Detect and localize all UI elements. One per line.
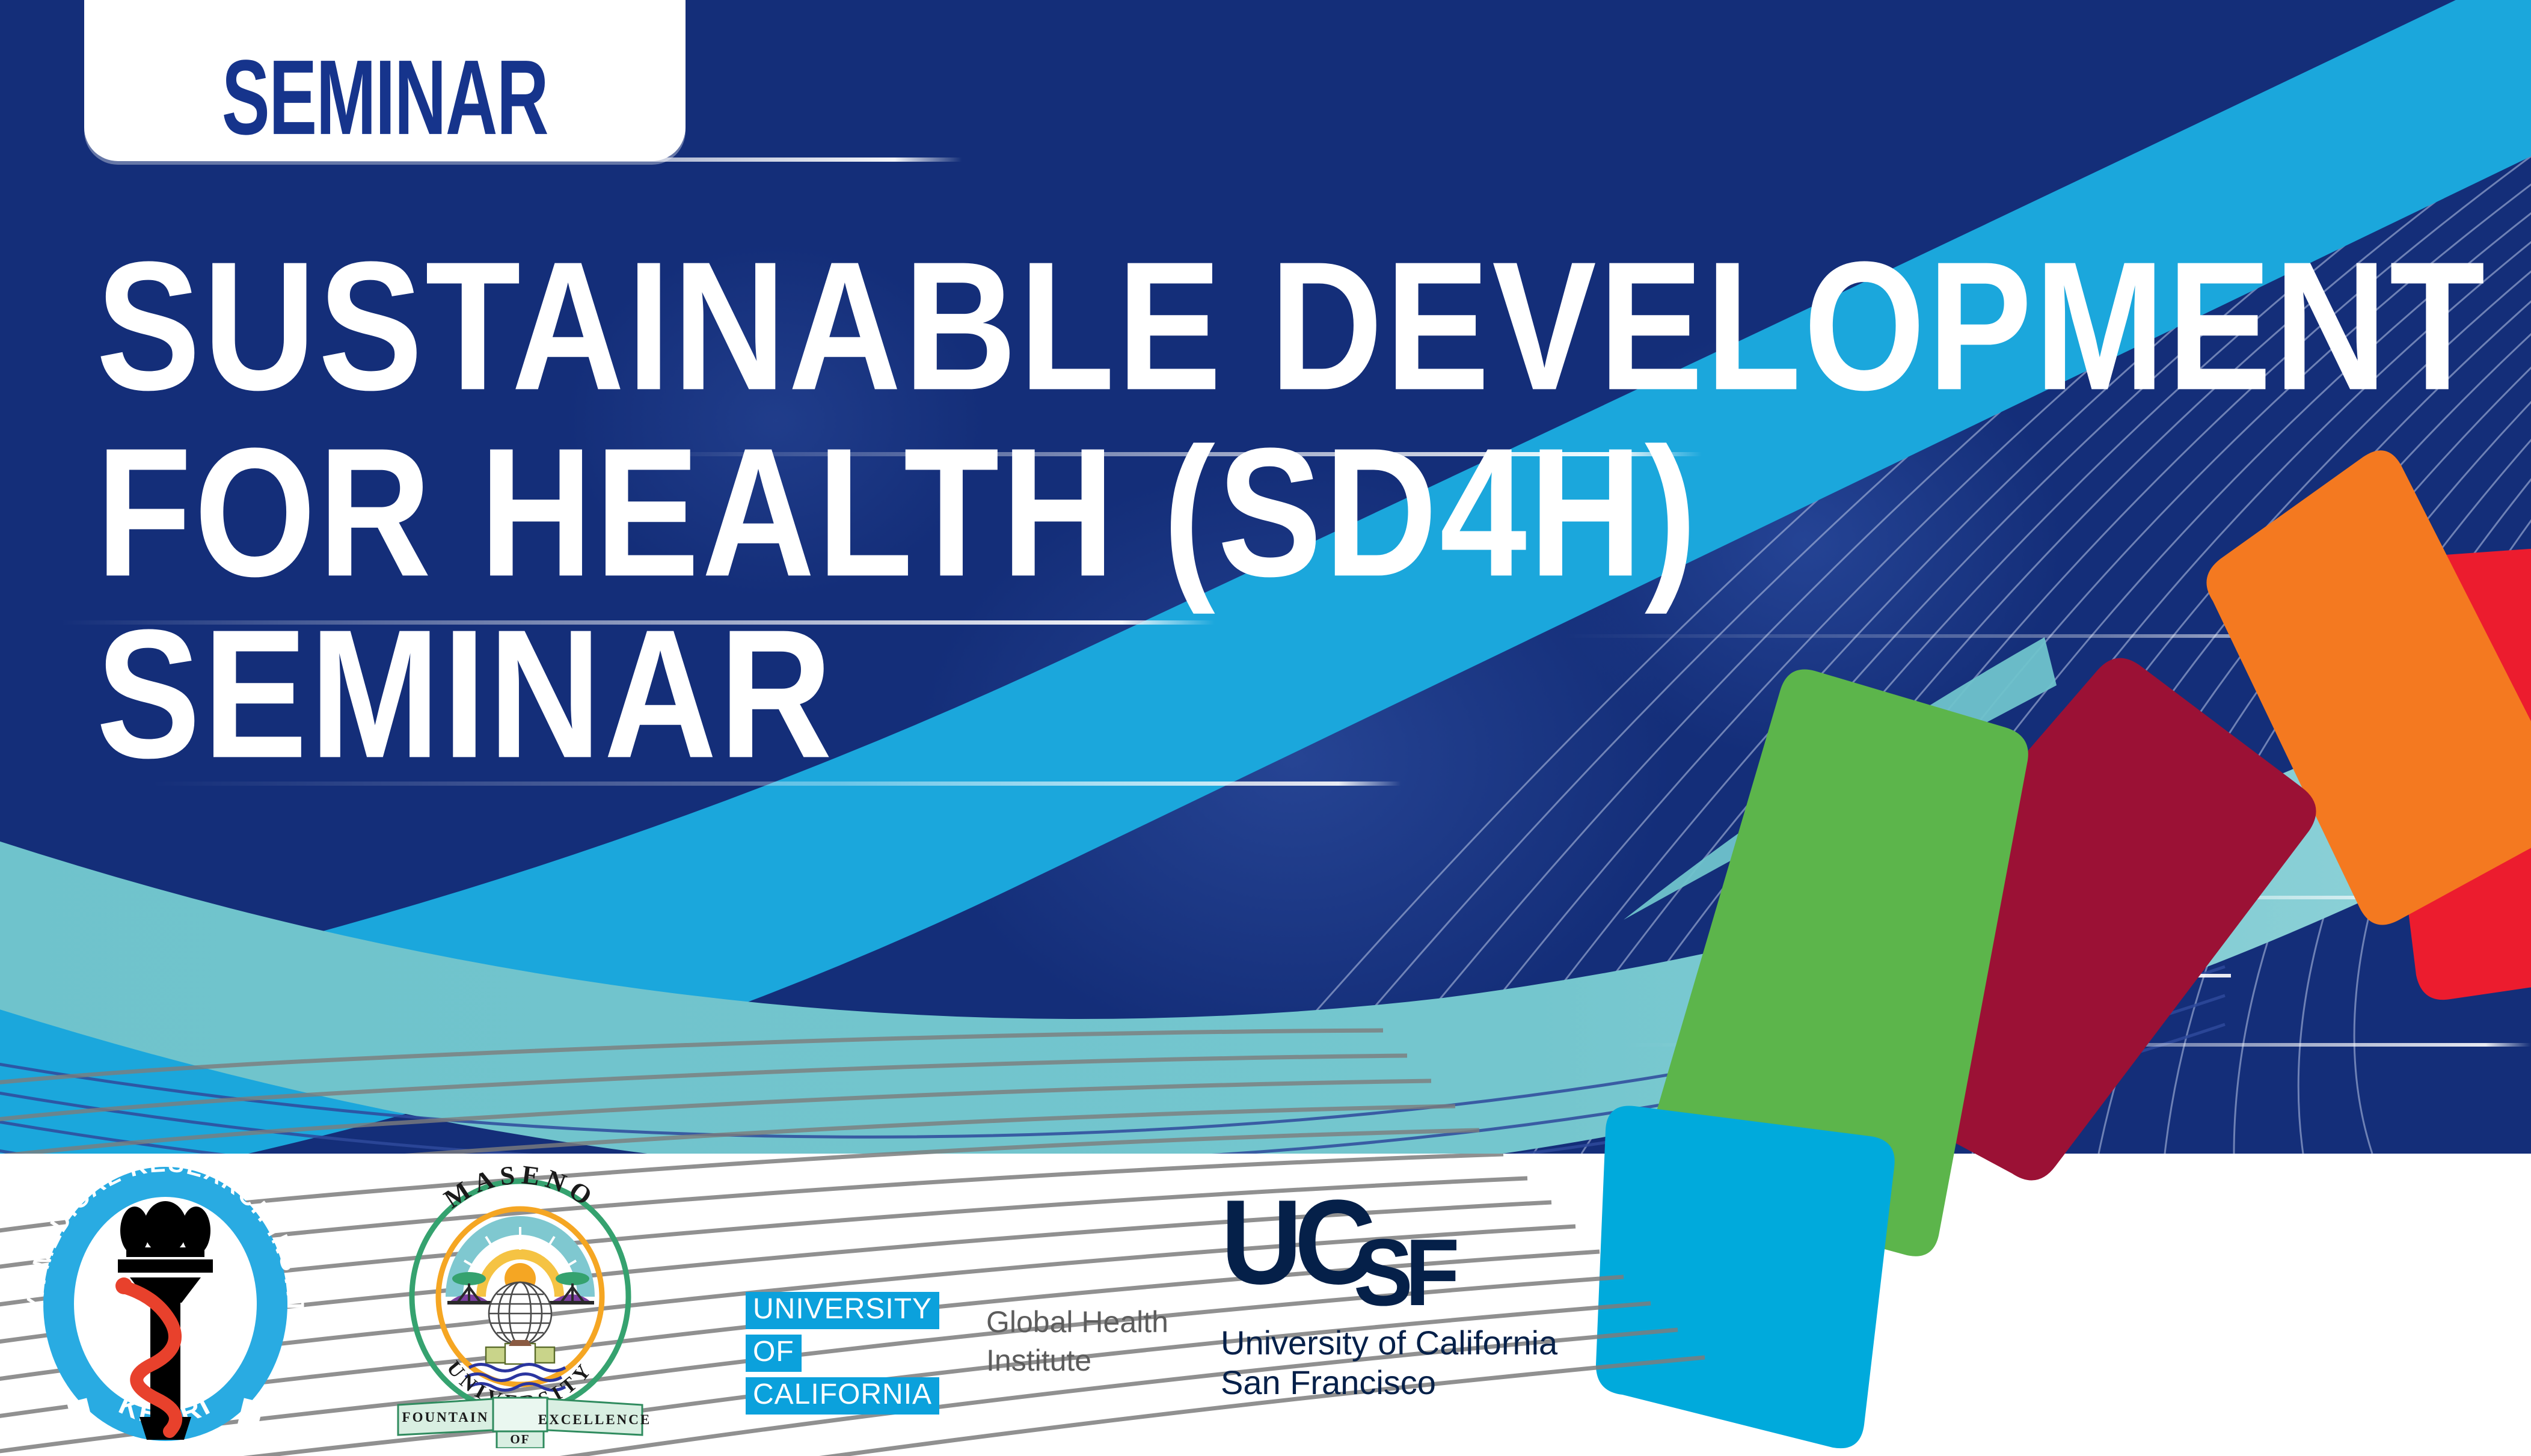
ucsf-logo: UCSF University of California San Franci… [1221,1190,1594,1406]
title-line-2: FOR HEALTH (SD4H) [96,421,2035,604]
maseno-banner-center: OF [510,1432,530,1446]
logo-footer: KENYA MEDICAL RESEARCH INSTITUTE KEMRI [0,1154,2531,1456]
seminar-badge: SEMINAR [84,0,686,161]
ucsf-mark-uc: UC [1221,1175,1368,1309]
maseno-globe-icon [489,1282,551,1345]
uc-ghi-name-line1: Global Health [986,1303,1168,1341]
seminar-banner: SEMINAR SUSTAINABLE DEVELOPMENT FOR HEAL… [0,0,2531,1456]
page-title: SUSTAINABLE DEVELOPMENT FOR HEALTH (SD4H… [96,234,1960,753]
title-line-3: SEMINAR [96,602,2035,786]
ucsf-subtitle-line2: San Francisco [1221,1363,1594,1402]
maseno-banner-left: FOUNTAIN [402,1410,489,1425]
uc-chip-california: CALIFORNIA [746,1377,939,1415]
uc-chip-of: OF [746,1335,802,1372]
uc-chip-university: UNIVERSITY [746,1292,939,1329]
uc-ghi-name-line2: Institute [986,1341,1168,1380]
maseno-books-icon [486,1340,554,1364]
seminar-badge-label: SEMINAR [222,44,548,150]
svg-text:MASENO: MASENO [439,1160,602,1214]
maseno-banner-right: EXCELLENCE [538,1412,651,1427]
ucsf-subtitle: University of California San Francisco [1221,1323,1594,1402]
kemri-logo: KENYA MEDICAL RESEARCH INSTITUTE KEMRI [6,1142,325,1454]
ucsf-subtitle-line1: University of California [1221,1323,1594,1363]
uc-global-health-institute-logo: UNIVERSITY OF CALIFORNIA Global Health I… [746,1292,1118,1412]
ucsf-wordmark: UCSF [1221,1190,1571,1315]
maseno-ring-text-top: MASENO [439,1160,602,1214]
maseno-banner: FOUNTAIN OF EXCELLENCE [398,1398,651,1448]
ucsf-mark-sf: SF [1354,1231,1452,1315]
uc-ghi-name: Global Health Institute [986,1303,1168,1380]
title-line-1: SUSTAINABLE DEVELOPMENT [96,234,2035,418]
maseno-logo: MASENO UNIVERSITY FOUNTAIN OF EXCELLENCE [385,1160,655,1448]
